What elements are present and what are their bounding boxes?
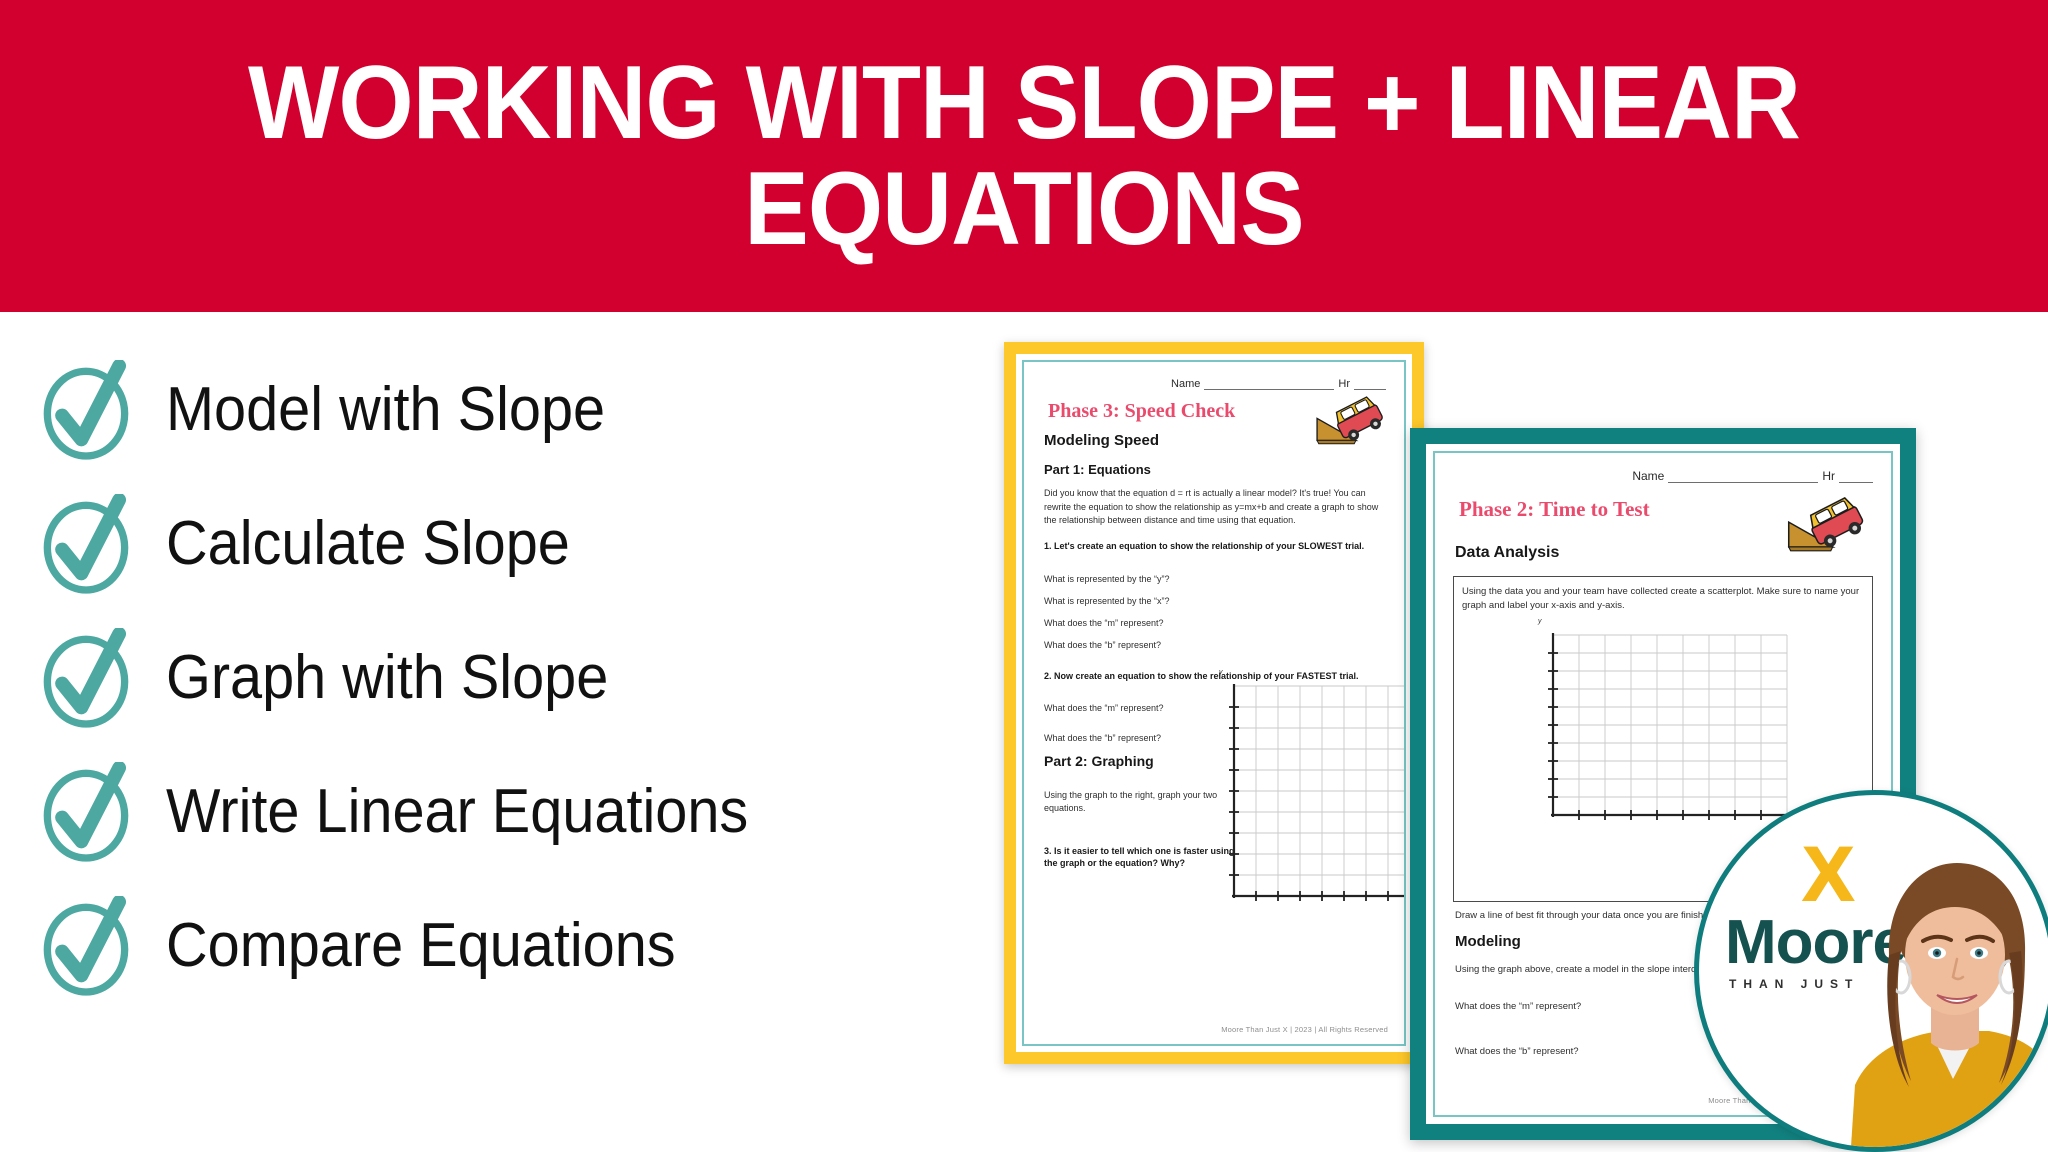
question-1-sub-b: What is represented by the “x”? [1044, 596, 1386, 606]
name-blank [1204, 389, 1334, 390]
worksheet-page: Name Hr Phase 3: Speed Check Modeling Sp… [1022, 360, 1406, 1046]
car-on-ramp-icon [1783, 497, 1869, 553]
check-circle-icon [40, 360, 132, 460]
question-1-sub-c: What does the “m” represent? [1044, 618, 1386, 628]
list-item-label: Model with Slope [166, 379, 605, 441]
worksheet-footer: Moore Than Just X | 2023 | All Rights Re… [1024, 1025, 1388, 1034]
check-circle-icon [40, 628, 132, 728]
question-1-sub-a: What is represented by the “y”? [1044, 574, 1386, 584]
brand-x-mark: X [1803, 837, 1854, 913]
list-item-label: Calculate Slope [166, 513, 570, 575]
check-circle-icon [40, 494, 132, 594]
list-item: Model with Slope [40, 360, 1000, 460]
hr-blank [1839, 482, 1873, 483]
part1-heading: Part 1: Equations [1044, 462, 1386, 477]
check-circle-icon [40, 762, 132, 862]
teacher-portrait [1849, 847, 2048, 1147]
header-banner: WORKING WITH SLOPE + LINEAR EQUATIONS [0, 0, 2048, 312]
question-1: 1. Let's create an equation to show the … [1044, 540, 1386, 553]
list-item-label: Write Linear Equations [166, 781, 748, 843]
check-circle-icon [40, 896, 132, 996]
intro-paragraph: Did you know that the equation d = rt is… [1044, 487, 1386, 528]
name-hr-line: Name Hr [1453, 469, 1873, 483]
hr-label: Hr [1338, 378, 1350, 390]
name-label: Name [1171, 378, 1200, 390]
list-item-label: Graph with Slope [166, 647, 608, 709]
worksheet-preview-phase-3[interactable]: Name Hr Phase 3: Speed Check Modeling Sp… [1004, 342, 1424, 1064]
name-blank [1668, 482, 1818, 483]
name-label: Name [1632, 469, 1664, 483]
list-item: Calculate Slope [40, 494, 1000, 594]
y-axis-label: y [1219, 669, 1223, 676]
page-title: WORKING WITH SLOPE + LINEAR EQUATIONS [206, 50, 1843, 262]
hr-label: Hr [1822, 469, 1835, 483]
y-axis-label: y [1538, 618, 1542, 625]
boxed-instructions: Using the data you and your team have co… [1462, 585, 1864, 614]
list-item: Graph with Slope [40, 628, 1000, 728]
car-on-ramp-icon [1312, 396, 1388, 446]
list-item: Write Linear Equations [40, 762, 1000, 862]
coordinate-grid: y [1220, 680, 1406, 916]
brand-avatar-bubble: Moore THAN JUST X [1694, 790, 2048, 1152]
name-hr-line: Name Hr [1042, 378, 1386, 390]
question-1-sub-d: What does the “b” represent? [1044, 640, 1386, 650]
question-3: 3. Is it easier to tell which one is fas… [1044, 845, 1249, 870]
coordinate-grid: y [1539, 629, 1791, 839]
part2-text: Using the graph to the right, graph your… [1044, 789, 1249, 815]
feature-checklist: Model with Slope Calculate Slope Graph w… [40, 360, 1000, 996]
list-item-label: Compare Equations [166, 915, 676, 977]
hr-blank [1354, 389, 1386, 390]
list-item: Compare Equations [40, 896, 1000, 996]
